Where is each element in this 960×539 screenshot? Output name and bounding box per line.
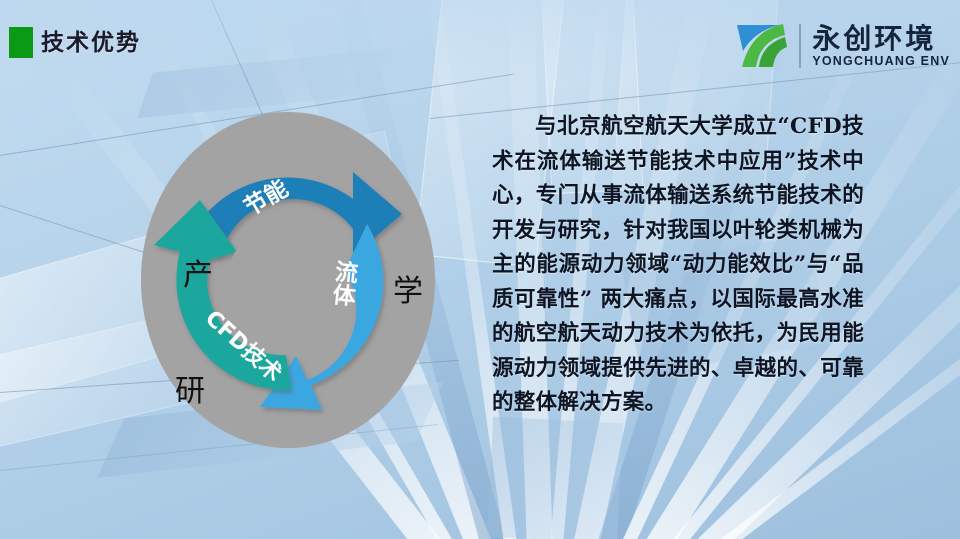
slide-canvas: 技术优势 永创环境 YONGCHUANG ENV [0,0,960,539]
title-accent-square [9,27,33,58]
cycle-corner-label-yan: 研 [175,366,205,410]
logo-divider [799,24,801,68]
cycle-corner-label-chan: 产 [183,250,213,294]
cycle-corner-label-xue: 学 [393,266,423,310]
cycle-diagram: 节能 流体 CFD技术 产 学 研 [140,108,440,448]
company-logo: 永创环境 YONGCHUANG ENV [733,17,950,75]
yongchuang-leaf-mark-icon [733,21,793,71]
logo-name-cn: 永创环境 [812,24,950,54]
logo-wordmark: 永创环境 YONGCHUANG ENV [812,24,950,68]
body-paragraph: 与北京航空航天大学成立“CFD技术在流体输送节能技术中应用”技术中心，专门从事流… [492,110,864,421]
background-slab [487,417,623,539]
page-title: 技术优势 [41,28,141,59]
logo-name-en: YONGCHUANG ENV [812,54,950,68]
